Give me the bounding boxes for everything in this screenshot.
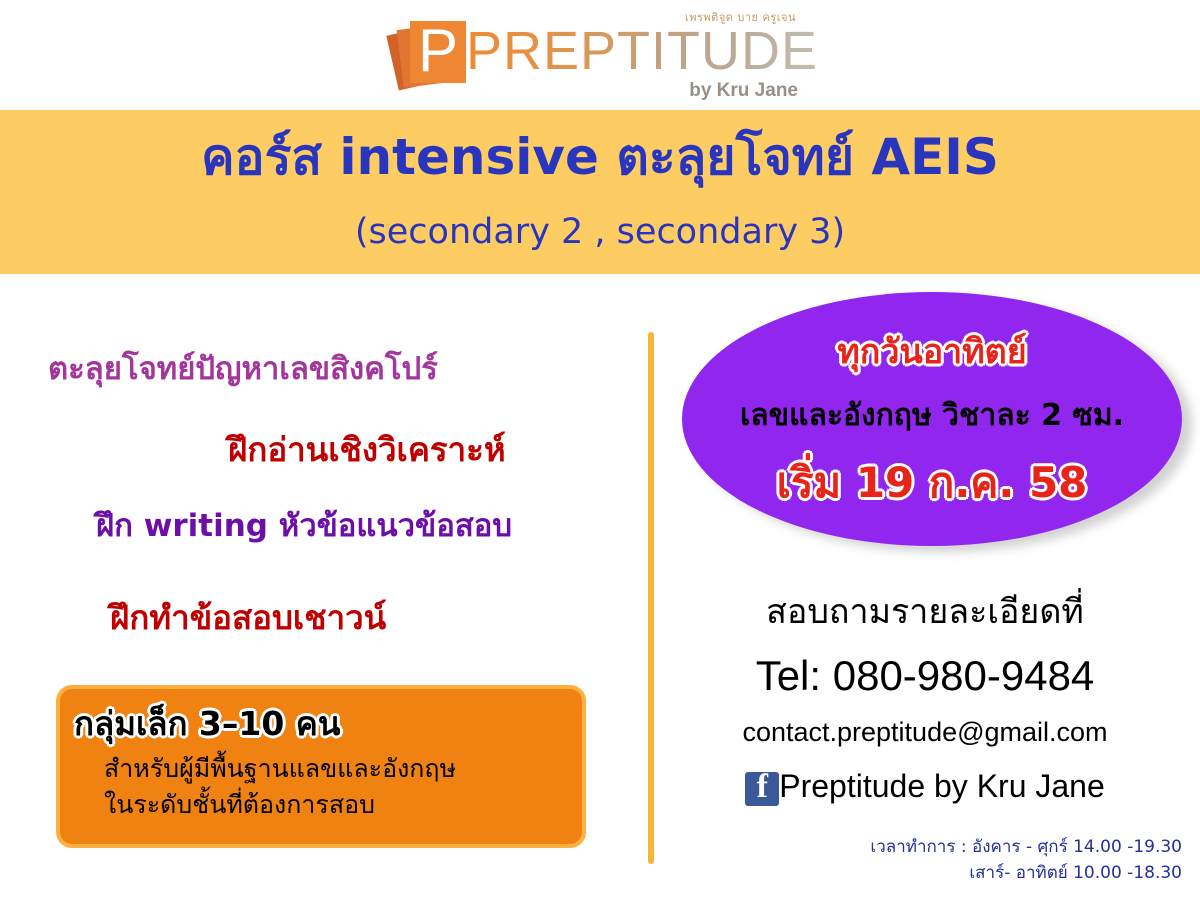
header: เพรพติจูด บาย ครูเจน P PREPTITUDE by Kru… [0, 0, 1200, 110]
contact-email[interactable]: contact.preptitude@gmail.com [650, 717, 1200, 748]
facebook-icon [745, 772, 779, 806]
feature-item-4: ฝึกทำข้อสอบเชาวน์ [110, 599, 386, 637]
logo-sheet-front-icon: P [410, 21, 466, 83]
course-subtitle: (secondary 2 , secondary 3) [0, 208, 1200, 256]
schedule-subjects: เลขและอังกฤษ วิชาละ 2 ซม. [682, 392, 1182, 439]
facebook-page-name: Preptitude by Kru Jane [779, 768, 1105, 804]
opening-hours: เวลาทำการ : อังคาร - ศุกร์ 14.00 -19.30 … [870, 834, 1182, 886]
brand-logo: เพรพติจูด บาย ครูเจน P PREPTITUDE by Kru… [400, 8, 800, 104]
logo-byline: by Kru Jane [689, 80, 798, 102]
contact-prompt: สอบถามรายละเอียดที่ [650, 584, 1200, 638]
course-title: คอร์ส intensive ตะลุยโจทย์ AEIS [0, 118, 1200, 196]
contact-phone[interactable]: Tel: 080-980-9484 [650, 652, 1200, 700]
logo-wordmark: PREPTITUDE [466, 20, 818, 82]
poster-root: เพรพติจูด บาย ครูเจน P PREPTITUDE by Kru… [0, 0, 1200, 900]
schedule-day: ทุกวันอาทิตย์ [682, 324, 1182, 378]
logo-letter-p: P [410, 21, 466, 83]
logo-mark-icon: P [404, 21, 466, 87]
group-size-heading: กลุ่มเล็ก 3–10 คน [74, 697, 340, 750]
feature-item-1: ตะลุยโจทย์ปัญหาเลขสิงคโปร์ [48, 352, 438, 388]
opening-hours-line-1: เวลาทำการ : อังคาร - ศุกร์ 14.00 -19.30 [870, 834, 1182, 860]
group-size-box: กลุ่มเล็ก 3–10 คน สำหรับผู้มีพื้นฐานแลขแ… [56, 685, 586, 848]
opening-hours-line-2: เสาร์- อาทิตย์ 10.00 -18.30 [870, 860, 1182, 886]
schedule-oval: ทุกวันอาทิตย์ เลขและอังกฤษ วิชาละ 2 ซม. … [682, 292, 1182, 546]
schedule-contact-column: ทุกวันอาทิตย์ เลขและอังกฤษ วิชาละ 2 ซม. … [650, 274, 1200, 900]
feature-item-3: ฝึก writing หัวข้อแนวข้อสอบ [96, 509, 512, 545]
group-size-line-2: ในระดับชั้นที่ต้องการสอบ [104, 785, 375, 825]
title-banner: คอร์ส intensive ตะลุยโจทย์ AEIS (seconda… [0, 110, 1200, 274]
facebook-link[interactable]: Preptitude by Kru Jane [650, 766, 1200, 814]
schedule-start-date: เริ่ม 19 ก.ค. 58 [682, 450, 1182, 516]
group-size-line-1: สำหรับผู้มีพื้นฐานแลขและอังกฤษ [104, 749, 456, 789]
feature-item-2: ฝึกอ่านเชิงวิเคราะห์ [228, 431, 506, 469]
features-column: ตะลุยโจทย์ปัญหาเลขสิงคโปร์ ฝึกอ่านเชิงวิ… [0, 274, 648, 900]
